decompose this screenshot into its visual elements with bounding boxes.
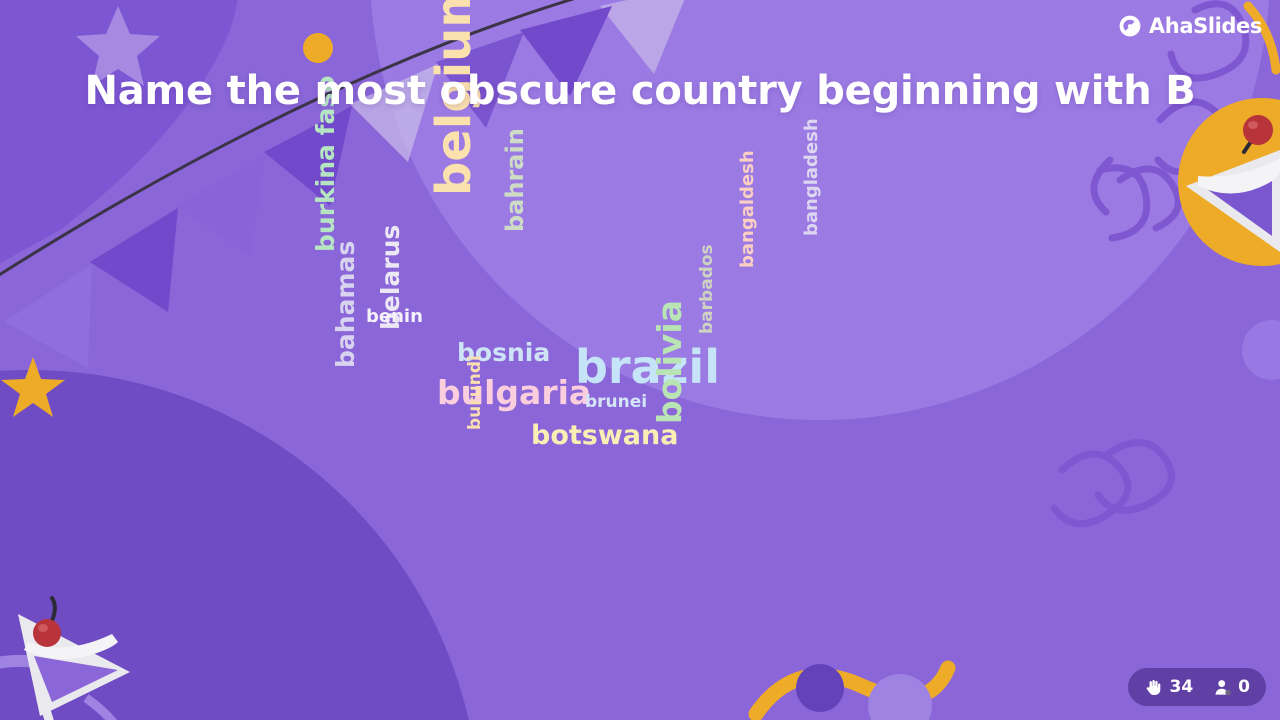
word-cloud-term: brunei xyxy=(585,394,647,411)
word-cloud-term: bolivia xyxy=(653,300,686,424)
word-cloud-term: bahrain xyxy=(503,128,527,232)
word-cloud-term: brazil xyxy=(575,344,720,390)
word-cloud-term: barbados xyxy=(699,244,716,334)
participants-count: 0 xyxy=(1238,677,1250,697)
raised-hand-icon xyxy=(1144,678,1163,697)
word-cloud-term: bangaldesh xyxy=(739,150,757,268)
person-icon xyxy=(1213,678,1232,697)
word-cloud-term: bangladesh xyxy=(803,118,821,236)
word-cloud-term: bulgaria xyxy=(437,376,591,409)
ahaslides-logo: AhaSlides xyxy=(1118,14,1262,38)
ahaslides-logo-text: AhaSlides xyxy=(1149,16,1262,37)
responses-count: 34 xyxy=(1169,677,1193,697)
word-cloud-term: botswana xyxy=(531,422,678,449)
ahaslides-logo-icon xyxy=(1118,14,1142,38)
word-cloud-term: benin xyxy=(366,308,423,326)
word-cloud-term: burundi xyxy=(467,355,484,430)
slide-stage: AhaSlides Name the most obscure country … xyxy=(0,0,1280,720)
page-title: Name the most obscure country beginning … xyxy=(0,68,1280,114)
status-badge: 34 0 xyxy=(1128,668,1266,706)
word-cloud-term: bahamas xyxy=(333,241,358,368)
